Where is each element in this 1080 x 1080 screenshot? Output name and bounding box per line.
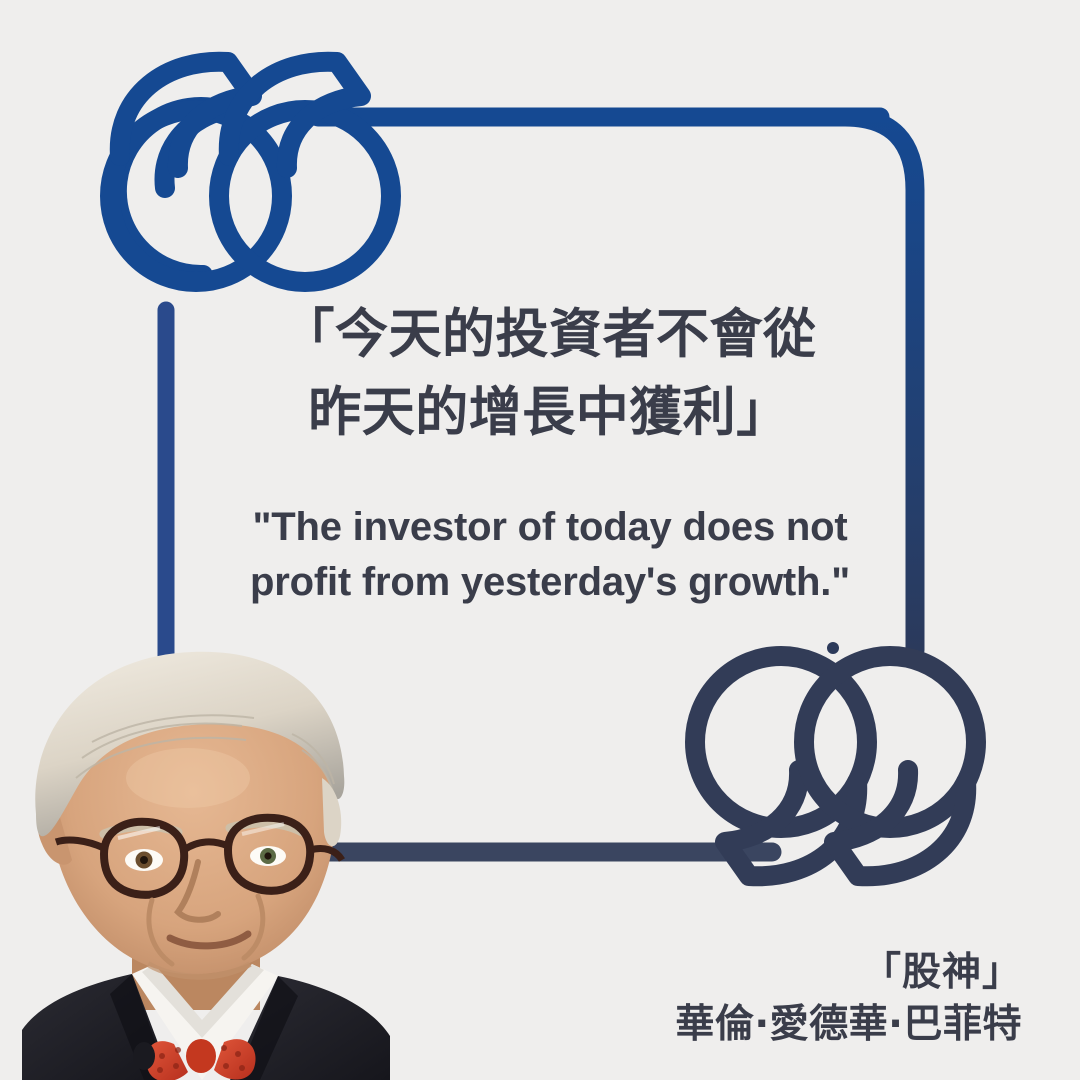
- quote-card: 「今天的投資者不會從 昨天的增長中獲利」 "The investor of to…: [0, 0, 1080, 1080]
- quote-english: "The investor of today does not profit f…: [210, 500, 890, 610]
- quote-chinese-line-2: 昨天的增長中獲利」: [196, 374, 902, 452]
- quote-chinese-line-1: 「今天的投資者不會從: [196, 296, 902, 374]
- attribution-title: 「股神」: [675, 948, 1022, 998]
- decorative-dot: [827, 642, 839, 654]
- attribution-name: 華倫·愛德華·巴菲特: [675, 998, 1022, 1052]
- attribution: 「股神」 華倫·愛德華·巴菲特: [675, 948, 1022, 1052]
- open-quotation-mark-icon: [110, 62, 391, 282]
- warren-buffett-portrait: [0, 638, 412, 1080]
- quote-chinese: 「今天的投資者不會從 昨天的增長中獲利」: [196, 296, 902, 452]
- close-quotation-mark-icon: [695, 656, 976, 876]
